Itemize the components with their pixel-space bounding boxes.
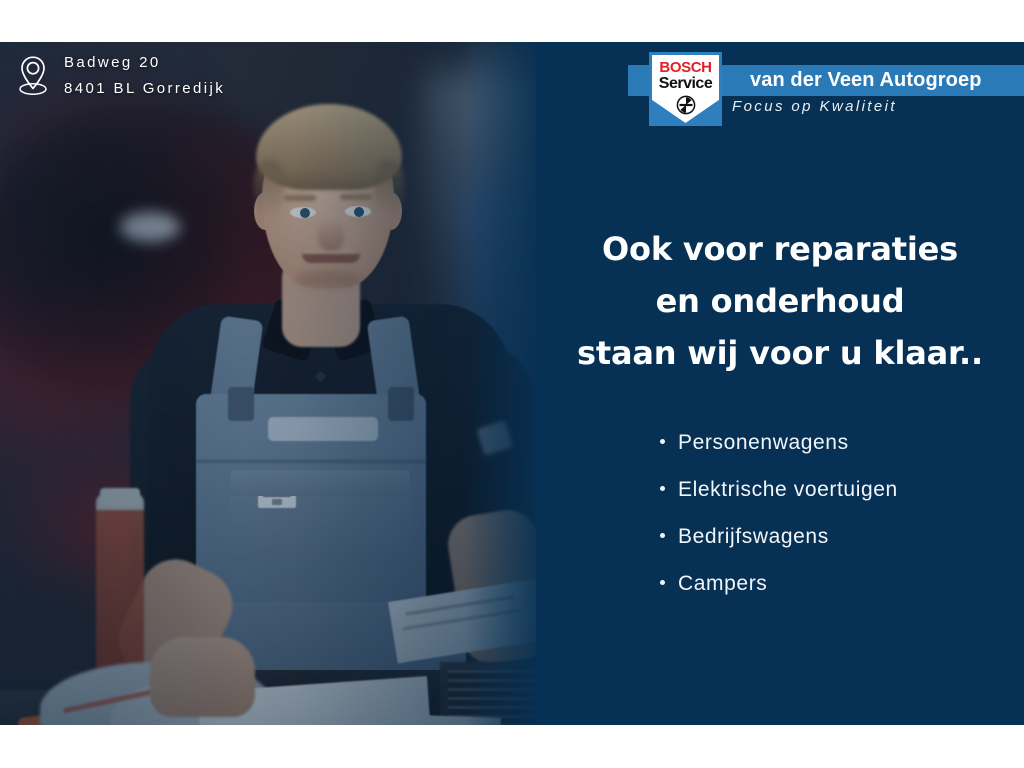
info-panel: BOSCH Service van der Veen Autogroep Foc… (536, 42, 1024, 725)
headline-line-2: en onderhoud (536, 276, 1024, 328)
address-block: Badweg 20 8401 BL Gorredijk (16, 50, 225, 102)
bullet-dot-icon (660, 533, 665, 538)
list-item: Personenwagens (660, 432, 898, 453)
headline-line-1: Ook voor reparaties (536, 224, 1024, 276)
list-item: Campers (660, 573, 898, 594)
company-name: van der Veen Autogroep (750, 64, 1024, 97)
bosch-logo-shield: BOSCH Service (652, 55, 719, 123)
service-label: Personenwagens (678, 431, 849, 454)
address-line-1: Badweg 20 (64, 50, 225, 76)
service-label: Campers (678, 572, 767, 595)
bullet-dot-icon (660, 580, 665, 585)
company-tagline: Focus op Kwaliteit (732, 98, 897, 115)
headline-line-3: staan wij voor u klaar.. (536, 328, 1024, 380)
service-label: Bedrijfswagens (678, 525, 829, 548)
photo-edge-fade (466, 42, 536, 725)
bullet-dot-icon (660, 486, 665, 491)
bosch-armature-icon (676, 95, 696, 115)
bosch-logo-brand-top: BOSCH (659, 60, 711, 75)
bosch-service-logo: BOSCH Service (649, 52, 722, 126)
services-list: Personenwagens Elektrische voertuigen Be… (660, 432, 898, 620)
advertisement-banner: Badweg 20 8401 BL Gorredijk BOSCH Servic… (0, 42, 1024, 725)
headline: Ook voor reparaties en onderhoud staan w… (536, 224, 1024, 379)
list-item: Bedrijfswagens (660, 526, 898, 547)
location-pin-icon (16, 54, 50, 98)
mechanic-photo (0, 42, 536, 725)
address-text: Badweg 20 8401 BL Gorredijk (64, 50, 225, 102)
photo-color-tint-overlay (0, 42, 536, 725)
bosch-logo-brand-bottom: Service (659, 76, 712, 92)
list-item: Elektrische voertuigen (660, 479, 898, 500)
address-line-2: 8401 BL Gorredijk (64, 76, 225, 102)
bullet-dot-icon (660, 439, 665, 444)
service-label: Elektrische voertuigen (678, 478, 898, 501)
